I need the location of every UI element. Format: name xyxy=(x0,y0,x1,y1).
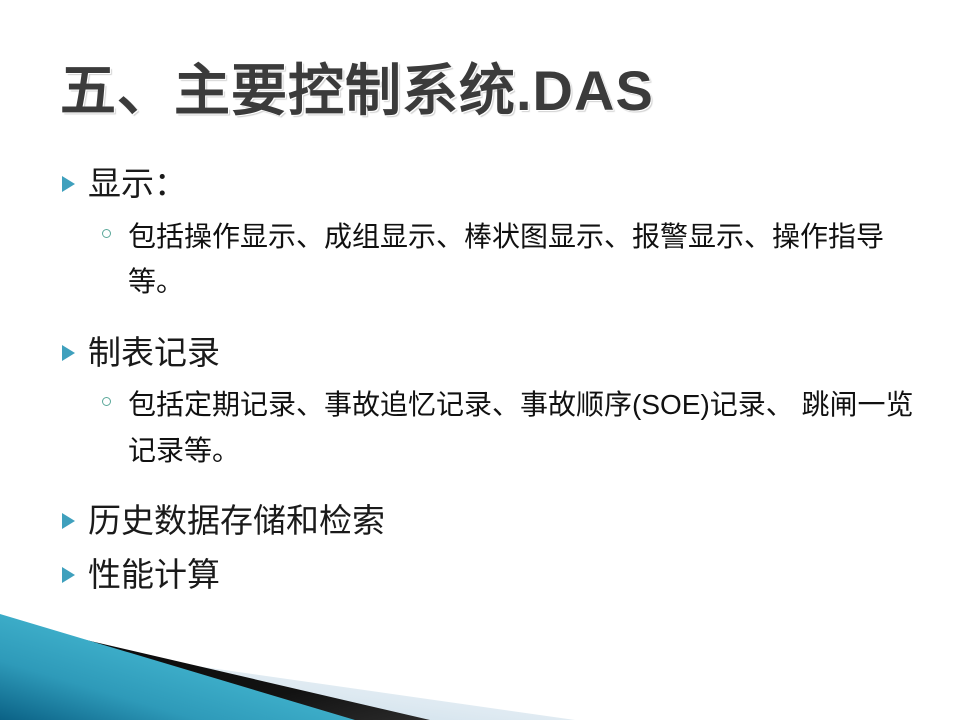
decoration-teal-triangle xyxy=(0,614,355,720)
bullet-text: 性能计算 xyxy=(88,551,220,599)
decoration-pale-wedge xyxy=(0,638,575,720)
bullet-text: 制表记录 xyxy=(88,329,220,377)
slide-body-list: 显示： 包括操作显示、成组显示、棒状图显示、报警显示、操作指导等。 制表记录 包… xyxy=(62,160,922,605)
triangle-right-icon xyxy=(62,551,88,583)
bullet-text: 显示： xyxy=(88,160,187,208)
bullet-text: 历史数据存储和检索 xyxy=(88,497,385,545)
slide-decoration xyxy=(0,590,960,720)
slide-title: 五、主要控制系统.DAS xyxy=(60,46,654,127)
presentation-slide: 五、主要控制系统.DAS 显示： 包括操作显示、成组显示、棒状图显示、报警显示、… xyxy=(0,0,960,720)
bullet-item-level1[interactable]: 制表记录 xyxy=(62,329,922,377)
list-spacer xyxy=(62,483,922,497)
triangle-right-icon xyxy=(62,497,88,529)
circle-outline-icon xyxy=(102,382,128,406)
bullet-item-level2[interactable]: 包括定期记录、事故追忆记录、事故顺序(SOE)记录、 跳闸一览记录等。 xyxy=(102,382,922,473)
bullet-item-level2[interactable]: 包括操作显示、成组显示、棒状图显示、报警显示、操作指导等。 xyxy=(102,214,922,305)
list-spacer xyxy=(62,315,922,329)
decoration-black-band xyxy=(0,620,430,720)
bullet-item-level1[interactable]: 历史数据存储和检索 xyxy=(62,497,922,545)
bullet-item-level1[interactable]: 显示： xyxy=(62,160,922,208)
triangle-right-icon xyxy=(62,160,88,192)
circle-outline-icon xyxy=(102,214,128,238)
bullet-text: 包括定期记录、事故追忆记录、事故顺序(SOE)记录、 跳闸一览记录等。 xyxy=(128,382,918,473)
bullet-text: 包括操作显示、成组显示、棒状图显示、报警显示、操作指导等。 xyxy=(128,214,918,305)
bullet-item-level1[interactable]: 性能计算 xyxy=(62,551,922,599)
triangle-right-icon xyxy=(62,329,88,361)
